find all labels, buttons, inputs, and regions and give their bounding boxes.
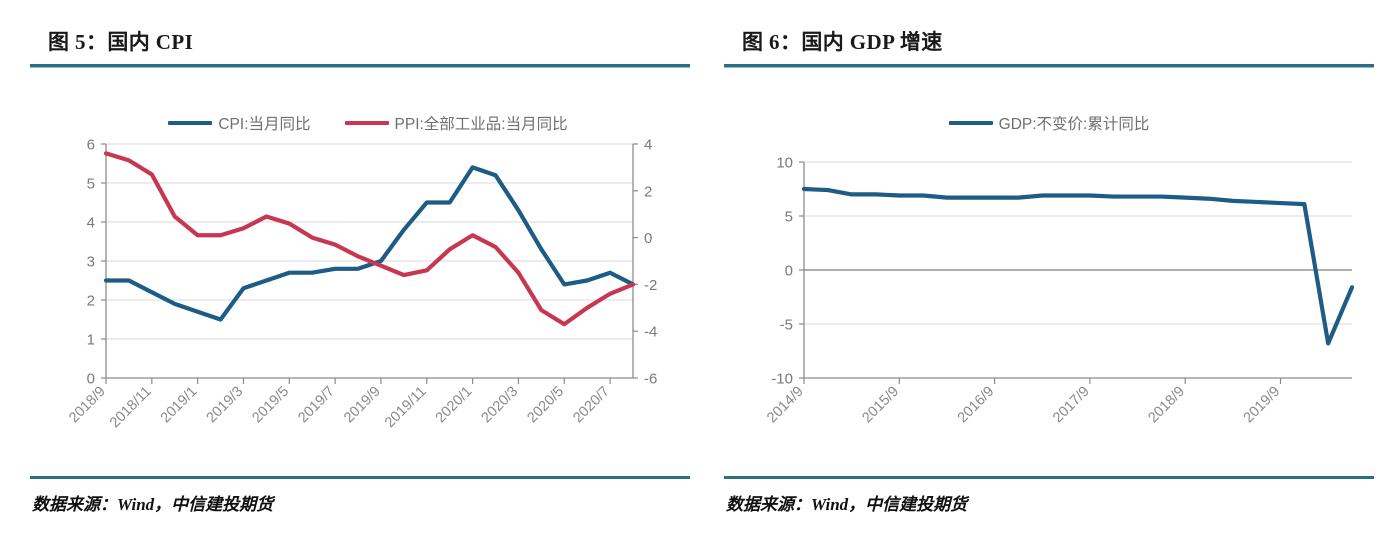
y-tick-label-left: 3	[87, 254, 95, 271]
cpi-y-left-labels: 0123456	[87, 137, 106, 388]
figure-5-bottom-rule	[30, 476, 690, 479]
y-tick-label-left: 5	[87, 176, 95, 193]
x-tick-label: 2018/9	[66, 384, 109, 427]
cpi-x-labels: 2018/92018/112019/12019/32019/52019/7201…	[66, 384, 613, 432]
x-tick-label: 2019/1	[158, 384, 201, 427]
series-line	[804, 189, 1352, 343]
y-tick-label-right: 4	[644, 137, 652, 154]
y-tick-label-right: -2	[644, 277, 657, 294]
figure-5-panel: 图 5：国内 CPI CPI:当月同比 PPI:全部工业品:当月同比 01234…	[30, 0, 690, 539]
gdp-plot-svg: -10-50510 2014/92015/92016/92017/92018/9…	[734, 100, 1364, 450]
gdp-xticks	[804, 378, 1281, 384]
gdp-series-lines	[804, 189, 1352, 343]
series-line	[106, 153, 633, 324]
gdp-chart: GDP:不变价:累计同比 -10-50510 2014/92015/92016/…	[734, 100, 1364, 450]
cpi-chart: CPI:当月同比 PPI:全部工业品:当月同比 0123456 -6-4-202…	[48, 100, 688, 450]
x-tick-label: 2020/3	[479, 384, 522, 427]
x-tick-label: 2016/9	[955, 384, 998, 427]
x-tick-label: 2019/9	[1241, 384, 1284, 427]
x-tick-label: 2020/5	[524, 384, 567, 427]
y-tick-label-right: -6	[644, 371, 657, 388]
x-tick-label: 2015/9	[859, 384, 902, 427]
figure-6-title: 图 6：国内 GDP 增速	[742, 26, 943, 56]
y-tick-label-right: 0	[644, 230, 652, 247]
y-tick-label-left: 0	[785, 263, 793, 280]
y-tick-label-left: 4	[87, 215, 95, 232]
cpi-plot-svg: 0123456 -6-4-2024 2018/92018/112019/1201…	[48, 100, 688, 450]
x-tick-label: 2020/7	[570, 384, 613, 427]
figure-6-top-rule	[724, 64, 1374, 68]
cpi-xticks	[106, 378, 610, 384]
gdp-y-left-labels: -10-50510	[771, 155, 804, 388]
figure-6-bottom-rule	[724, 476, 1374, 479]
x-tick-label: 2020/1	[433, 384, 476, 427]
y-tick-label-left: -5	[780, 317, 793, 334]
x-tick-label: 2018/11	[107, 384, 155, 432]
x-tick-label: 2018/9	[1145, 384, 1188, 427]
figure-6-source: 数据来源：Wind，中信建投期货	[726, 490, 967, 515]
y-tick-label-left: -10	[771, 371, 793, 388]
figure-6-panel: 图 6：国内 GDP 增速 GDP:不变价:累计同比 -10-50510 201…	[724, 0, 1374, 539]
gdp-x-labels: 2014/92015/92016/92017/92018/92019/9	[764, 384, 1283, 427]
x-tick-label: 2019/9	[341, 384, 384, 427]
x-tick-label: 2019/3	[204, 384, 247, 427]
x-tick-label: 2017/9	[1050, 384, 1093, 427]
y-tick-label-left: 10	[776, 155, 793, 172]
x-tick-label: 2019/7	[295, 384, 338, 427]
x-tick-label: 2019/5	[249, 384, 292, 427]
figure-5-source: 数据来源：Wind，中信建投期货	[32, 490, 273, 515]
y-tick-label-left: 1	[87, 332, 95, 349]
series-line	[106, 167, 633, 319]
figures-page: 图 5：国内 CPI CPI:当月同比 PPI:全部工业品:当月同比 01234…	[0, 0, 1384, 539]
cpi-series-lines	[106, 153, 633, 324]
cpi-y-right-labels: -6-4-2024	[633, 137, 657, 388]
y-tick-label-left: 6	[87, 137, 95, 154]
y-tick-label-left: 2	[87, 293, 95, 310]
figure-5-top-rule	[30, 64, 690, 68]
y-tick-label-right: 2	[644, 183, 652, 200]
y-tick-label-right: -4	[644, 324, 657, 341]
figure-5-title: 图 5：国内 CPI	[48, 26, 193, 56]
y-tick-label-left: 0	[87, 371, 95, 388]
x-tick-label: 2014/9	[764, 384, 807, 427]
y-tick-label-left: 5	[785, 209, 793, 226]
x-tick-label: 2019/11	[382, 384, 430, 432]
